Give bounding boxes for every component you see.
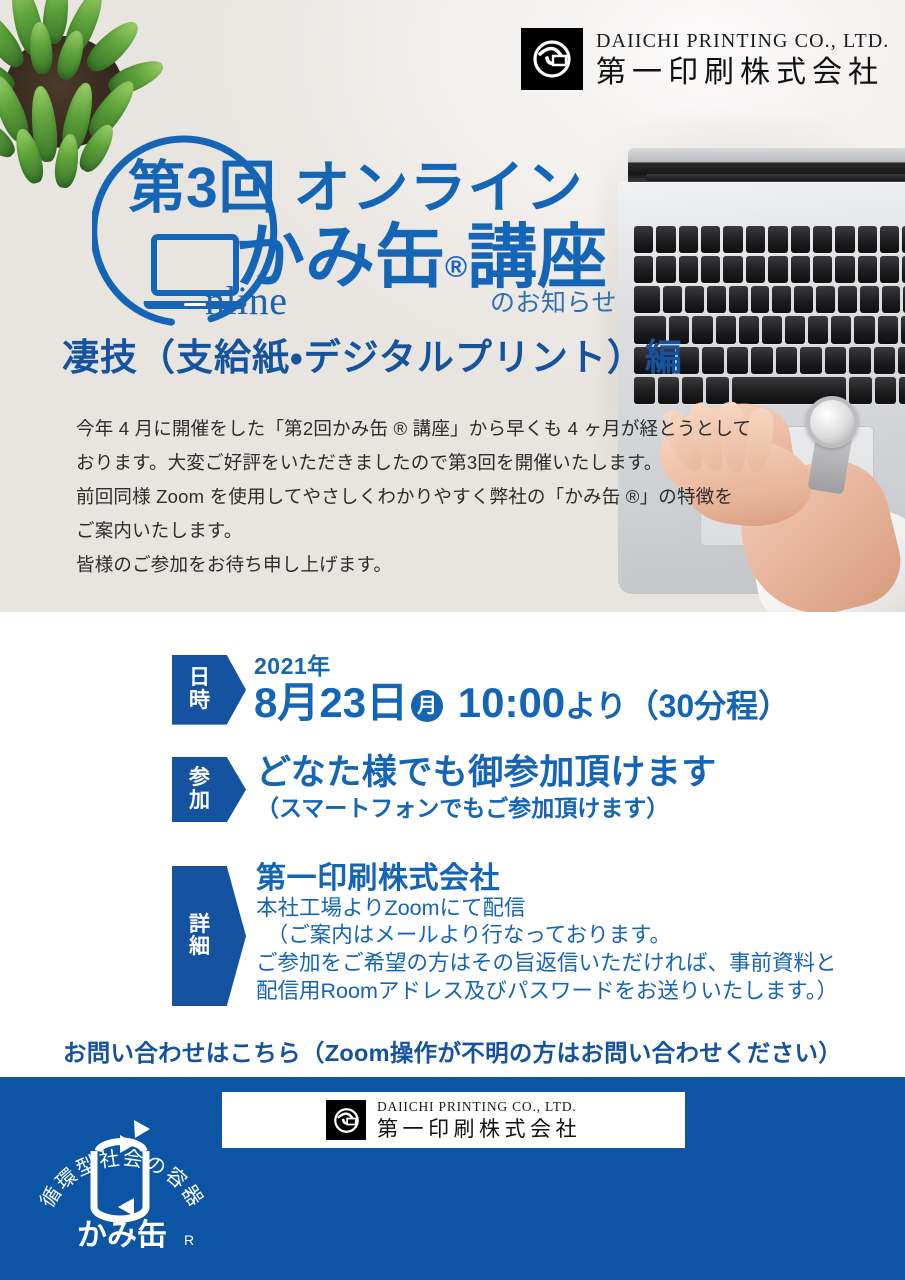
footer-band: 循環型社会の容器 かみ缶 R (0, 1077, 905, 1280)
daiichi-logo-icon (521, 28, 583, 90)
company-name-jp: 第一印刷株式会社 (596, 58, 889, 88)
tag-char: 時 (189, 690, 211, 712)
title-line-3: のお知らせ (490, 291, 617, 316)
registered-mark: ® (445, 251, 467, 284)
info-row-details: 詳 細 第一印刷株式会社 本社工場よりZoomにて配信 （ご案内はメールより行な… (172, 866, 838, 1006)
intro-line: 前回同様 Zoom を使用してやさしくわかりやすく弊社の「かみ缶 ®」の特徴を (76, 480, 776, 514)
event-time: 10:00 (446, 679, 565, 726)
footer-company-logo: DAIICHI PRINTING CO., LTD. 第一印刷株式会社 (222, 1092, 685, 1148)
join-sub: （スマートフォンでもご参加頂けます） (256, 795, 717, 823)
tag-char: 参 (189, 767, 211, 789)
subtitle: 凄技（支給紙・デジタルプリント）編 (62, 339, 683, 376)
title-line-1: 第3回 オンライン (128, 160, 584, 217)
info-row-join: 参 加 どなた様でも御参加頂けます （スマートフォンでもご参加頂けます） (172, 757, 717, 822)
intro-line: おります。大変ご好評をいただきましたので第3回を開催いたします。 (76, 446, 776, 480)
tag-details: 詳 細 (172, 866, 246, 1006)
tag-char: 加 (189, 790, 211, 812)
details-line: ご参加をご希望の方はその旨返信いただければ、事前資料と (256, 950, 838, 978)
event-weekday: 月 (411, 690, 443, 722)
footer-company-en: DAIICHI PRINTING CO., LTD. (377, 1100, 581, 1114)
tag-char: 詳 (189, 914, 211, 936)
tag-char: 日 (189, 667, 211, 689)
laptop-hinge (646, 174, 905, 181)
title-kouza: 講座 (467, 218, 607, 296)
event-datetime: 8月23日月 10:00より（30分程） (254, 681, 790, 725)
tag-join: 参 加 (172, 757, 246, 822)
tag-datetime: 日 時 (172, 655, 246, 725)
details-line: （ご案内はメールより行なっております。 (256, 922, 838, 950)
join-main: どなた様でも御参加頂けます (256, 755, 717, 792)
title-kamikan: かみ缶 (235, 218, 445, 296)
event-time-suffix: より (565, 689, 626, 724)
info-row-datetime: 日 時 2021年 8月23日月 10:00より（30分程） (172, 655, 790, 725)
intro-paragraph: 今年 4 月に開催をした「第2回かみ缶 ® 講座」から早くも 4 ヶ月が経とうと… (76, 412, 776, 582)
wristwatch (806, 396, 858, 448)
intro-line: 今年 4 月に開催をした「第2回かみ缶 ® 講座」から早くも 4 ヶ月が経とうと… (76, 412, 776, 446)
kamikan-arc-text: 循環型社会の容器 (36, 1146, 208, 1212)
footer-company-jp: 第一印刷株式会社 (377, 1119, 581, 1140)
company-name-en: DAIICHI PRINTING CO., LTD. (596, 31, 889, 51)
details-line: 本社工場よりZoomにて配信 (256, 895, 838, 923)
details-line: 配信用Roomアドレス及びパスワードをお送りいたします。） (256, 978, 838, 1006)
kamikan-recycle-logo: 循環型社会の容器 かみ缶 R (32, 1095, 212, 1265)
company-logo-header: DAIICHI PRINTING CO., LTD. 第一印刷株式会社 (521, 28, 889, 90)
flyer-page: DAIICHI PRINTING CO., LTD. 第一印刷株式会社 nlin… (0, 0, 905, 1280)
tag-char: 細 (189, 936, 211, 958)
contact-heading: お問い合わせはこちら（Zoom操作が不明の方はお問い合わせください） (0, 1034, 905, 1068)
event-duration: （30分程） (627, 688, 791, 724)
intro-line: 皆様のご参加をお待ち申し上げます。 (76, 548, 776, 582)
event-year: 2021年 (254, 655, 790, 678)
title-line-2: かみ缶®講座 (235, 222, 607, 292)
laptop-lid (628, 148, 905, 184)
intro-line: ご案内いたします。 (76, 514, 776, 548)
details-company: 第一印刷株式会社 (256, 863, 838, 895)
svg-text:循環型社会の容器: 循環型社会の容器 (36, 1146, 208, 1212)
kamikan-registered-mark: R (184, 1232, 194, 1248)
kamikan-name: かみ缶 (77, 1219, 167, 1252)
daiichi-logo-icon-footer (326, 1100, 366, 1140)
event-date: 8月23日 (254, 679, 408, 726)
